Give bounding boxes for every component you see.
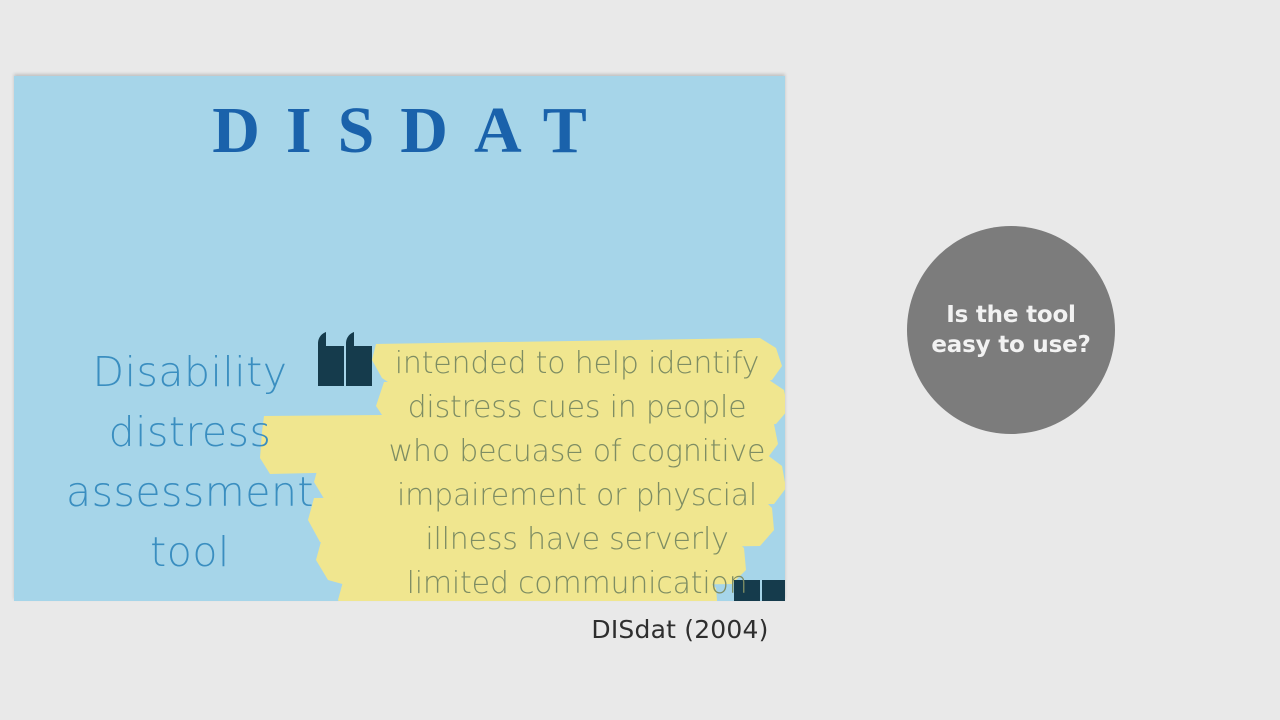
disdat-subject-text: Disability distress assessment tool xyxy=(32,342,348,582)
quote-line: intended to help identify xyxy=(395,346,759,381)
question-line: easy to use? xyxy=(931,330,1090,360)
subject-line: assessment xyxy=(32,462,348,522)
quote-line: communication xyxy=(518,566,747,601)
disdat-caption: DISdat (2004) xyxy=(445,615,915,644)
disdat-quotation: intended to help identify distress cues … xyxy=(310,334,785,601)
disdat-title: DISDAT xyxy=(14,98,785,164)
subject-line: distress xyxy=(32,402,348,462)
quote-line: distress cues in people xyxy=(408,390,747,425)
question-circle-label: Is the tool easy to use? xyxy=(931,300,1090,360)
question-circle: Is the tool easy to use? xyxy=(907,226,1115,434)
question-line: Is the tool xyxy=(931,300,1090,330)
subject-line: Disability xyxy=(32,342,348,402)
quote-text: intended to help identify distress cues … xyxy=(382,342,772,601)
quote-line: who becuase of xyxy=(389,434,622,469)
disdat-infographic-card: DISDAT xyxy=(14,76,785,601)
subject-line: tool xyxy=(32,522,348,582)
presentation-slide: DISDAT xyxy=(0,0,1280,720)
